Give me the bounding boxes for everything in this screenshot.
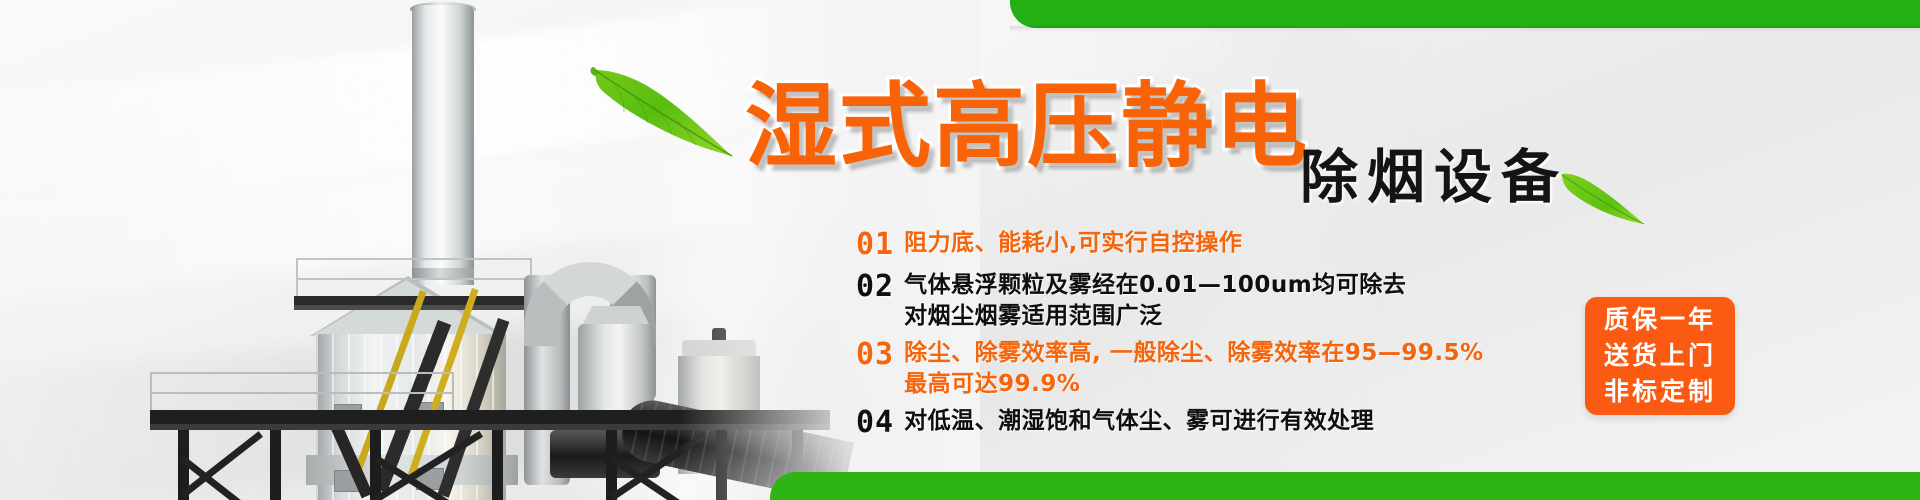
feature-text: 气体悬浮颗粒及雾经在0.01—100um均可除去 对烟尘烟雾适用范围广泛 bbox=[904, 270, 1406, 332]
badge-line-custom: 非标定制 bbox=[1604, 374, 1716, 410]
vessel-cone bbox=[582, 306, 650, 326]
green-bar-bottom bbox=[770, 472, 1920, 500]
page-subtitle: 除烟设备 bbox=[1300, 130, 1568, 214]
upper-platform bbox=[294, 296, 532, 305]
badge-line-delivery: 送货上门 bbox=[1604, 338, 1716, 374]
feature-text: 对低温、潮湿饱和气体尘、雾可进行有效处理 bbox=[904, 406, 1374, 437]
support-leg bbox=[270, 430, 281, 500]
feature-number: 02 bbox=[856, 270, 894, 304]
feature-number: 01 bbox=[856, 228, 894, 262]
leaf-icon bbox=[1556, 168, 1648, 230]
feature-item: 03 除尘、除雾效率高, 一般除尘、除雾效率在95—99.5% 最高可达99.9… bbox=[856, 338, 1616, 400]
guarantee-badge: 质保一年 送货上门 非标定制 bbox=[1585, 297, 1735, 415]
deck-railing bbox=[150, 372, 454, 412]
feature-item: 02 气体悬浮颗粒及雾经在0.01—100um均可除去 对烟尘烟雾适用范围广泛 bbox=[856, 270, 1616, 332]
feature-text: 阻力底、能耗小,可实行自控操作 bbox=[904, 228, 1242, 259]
leaf-icon bbox=[580, 58, 740, 164]
promo-banner: 湿式高压静电 除烟设备 01 阻力底、能耗小,可实行自控操作 02 气体悬浮颗粒… bbox=[0, 0, 1920, 500]
green-bar-top bbox=[1010, 0, 1920, 28]
feature-text: 除尘、除雾效率高, 一般除尘、除雾效率在95—99.5% 最高可达99.9% bbox=[904, 338, 1484, 400]
feature-number: 04 bbox=[856, 406, 894, 440]
support-leg bbox=[492, 430, 503, 500]
feature-item: 01 阻力底、能耗小,可实行自控操作 bbox=[856, 228, 1616, 262]
badge-line-warranty: 质保一年 bbox=[1604, 302, 1716, 338]
page-title: 湿式高压静电 bbox=[745, 52, 1309, 185]
upper-platform-railing bbox=[296, 258, 532, 298]
feature-item: 04 对低温、潮湿饱和气体尘、雾可进行有效处理 bbox=[856, 406, 1616, 440]
feature-list: 01 阻力底、能耗小,可实行自控操作 02 气体悬浮颗粒及雾经在0.01—100… bbox=[856, 228, 1616, 443]
chimney-stack bbox=[412, 5, 474, 285]
feature-number: 03 bbox=[856, 338, 894, 372]
